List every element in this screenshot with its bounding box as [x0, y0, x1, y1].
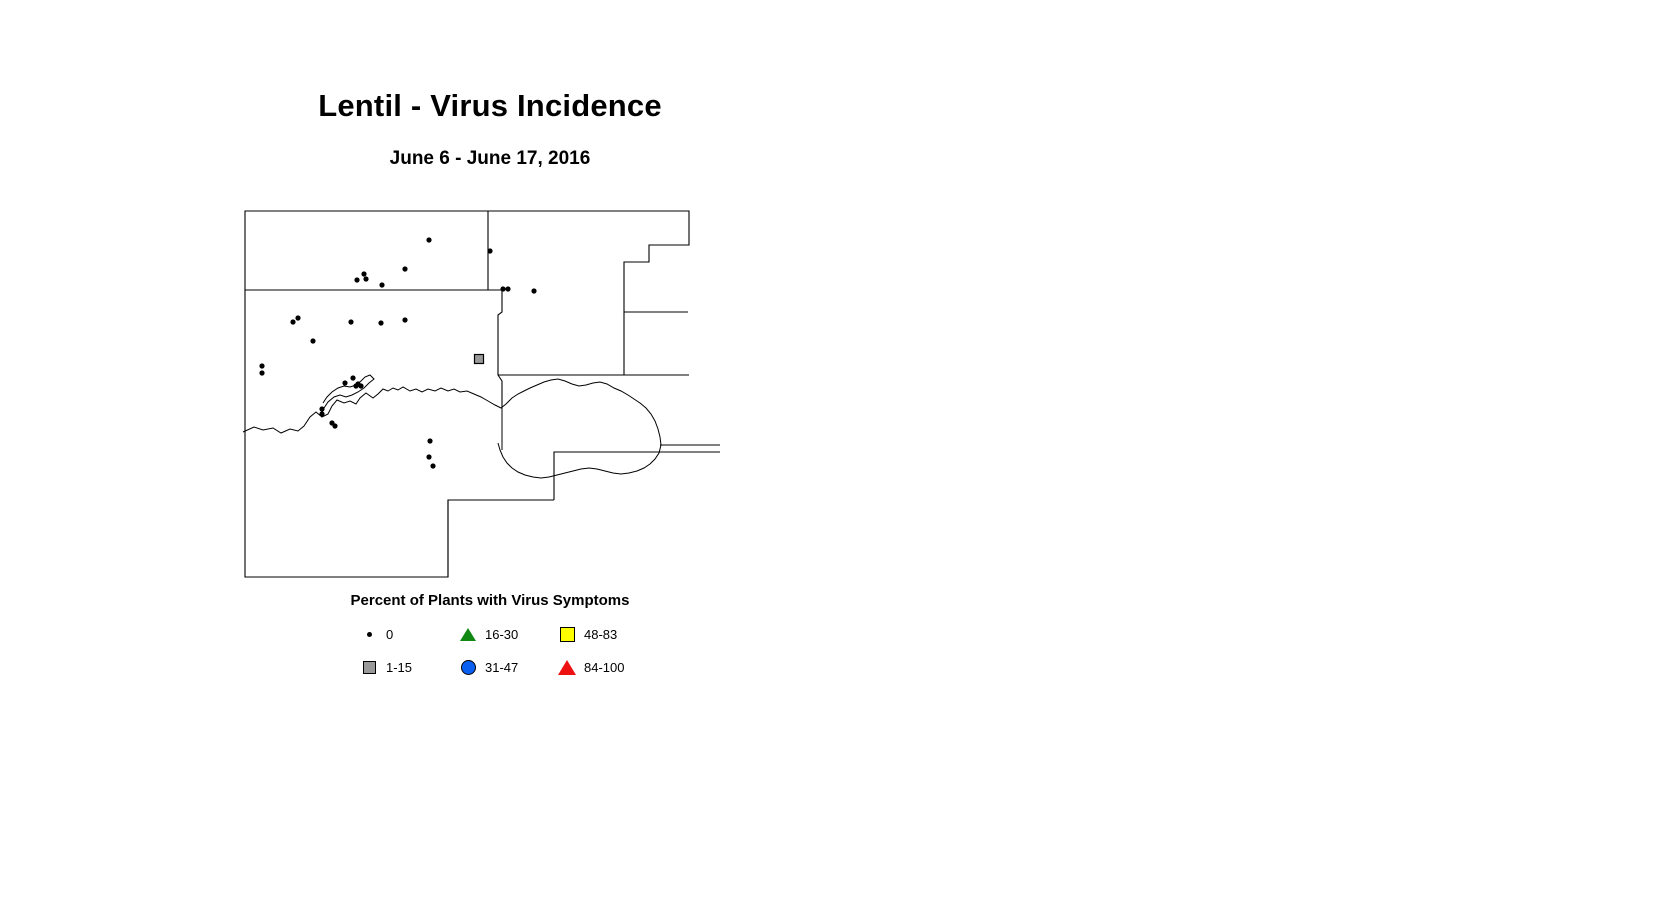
- legend-label: 1-15: [382, 660, 412, 675]
- legend-label: 16-30: [481, 627, 518, 642]
- map-point-0: [319, 406, 324, 411]
- map-point-0: [361, 271, 366, 276]
- map-point-0: [350, 375, 355, 380]
- legend-label: 48-83: [580, 627, 617, 642]
- legend-label: 31-47: [481, 660, 518, 675]
- legend-item-1-15: 1-15: [356, 657, 455, 679]
- legend-item-16-30: 16-30: [455, 624, 554, 646]
- map-point-0: [319, 411, 324, 416]
- map-point-0: [363, 276, 368, 281]
- map-point-0: [402, 266, 407, 271]
- map-point-0: [487, 248, 492, 253]
- map-point-0: [353, 383, 358, 388]
- map-point-0: [342, 380, 347, 385]
- map-figure: Lentil - Virus Incidence June 6 - June 1…: [0, 0, 1673, 900]
- legend: 0 16-30 48-83 1-15 31-47 84-100: [356, 618, 686, 684]
- legend-item-0: 0: [356, 624, 455, 646]
- map-point-0: [430, 463, 435, 468]
- gray-square-icon: [356, 657, 382, 679]
- red-triangle-icon: [554, 657, 580, 679]
- map-point-0: [402, 317, 407, 322]
- legend-row: 0 16-30 48-83: [356, 618, 686, 651]
- map-point-0: [332, 423, 337, 428]
- river-notch: [323, 375, 374, 408]
- map-point-0: [426, 237, 431, 242]
- county-boundaries: [245, 211, 720, 577]
- green-triangle-icon: [455, 624, 481, 646]
- page-title: Lentil - Virus Incidence: [0, 88, 980, 124]
- black-dot-icon: [356, 624, 382, 646]
- map-point-0: [259, 363, 264, 368]
- blue-circle-icon: [455, 657, 481, 679]
- legend-title: Percent of Plants with Virus Symptoms: [0, 592, 980, 609]
- map-point-0: [531, 288, 536, 293]
- map-point-0: [500, 286, 505, 291]
- map-point-0: [348, 319, 353, 324]
- map-point-0: [310, 338, 315, 343]
- map-point-0: [358, 383, 363, 388]
- yellow-square-icon: [554, 624, 580, 646]
- river-boundary: [243, 379, 661, 478]
- map-point-0: [354, 277, 359, 282]
- map-point-0: [427, 438, 432, 443]
- map-point-0: [295, 315, 300, 320]
- legend-row: 1-15 31-47 84-100: [356, 651, 686, 684]
- map-point-0: [259, 370, 264, 375]
- map-point-0: [426, 454, 431, 459]
- data-points-layer: [259, 237, 536, 468]
- map-point-0: [379, 282, 384, 287]
- legend-item-48-83: 48-83: [554, 624, 653, 646]
- legend-label: 84-100: [580, 660, 624, 675]
- map-point-0: [290, 319, 295, 324]
- legend-label: 0: [382, 627, 393, 642]
- legend-item-84-100: 84-100: [554, 657, 653, 679]
- south-boundaries: [448, 445, 720, 577]
- legend-item-31-47: 31-47: [455, 657, 554, 679]
- map-point-0: [505, 286, 510, 291]
- map-point-0: [378, 320, 383, 325]
- page-subtitle: June 6 - June 17, 2016: [0, 148, 980, 170]
- map-canvas: [240, 205, 740, 590]
- map-point-1-15: [475, 355, 484, 364]
